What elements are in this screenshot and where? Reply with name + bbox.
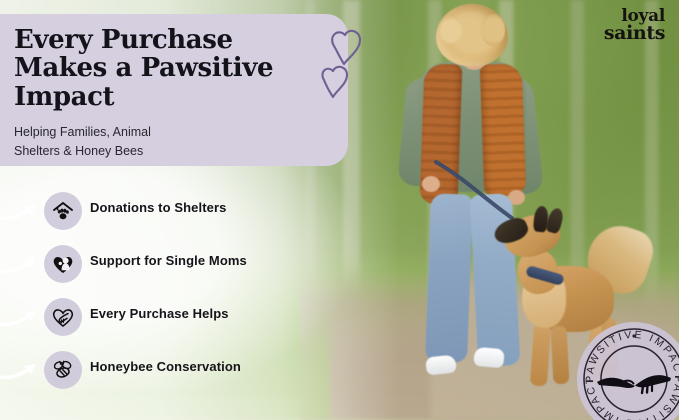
pawsitive-impact-seal: PAWSITIVE IMPACT PAWSITIVE IMPACT <box>575 320 679 420</box>
list-item[interactable]: Every Purchase Helps <box>0 296 330 349</box>
page-title: Every Purchase Makes a Pawsitive Impact <box>14 26 324 111</box>
list-item-label: Support for Single Moms <box>90 253 247 268</box>
headline-card-content: Every Purchase Makes a Pawsitive Impact … <box>14 26 324 162</box>
promo-banner: loyal saints Every Purchase Makes a Paws… <box>0 0 679 420</box>
dog-leg-front-a <box>530 323 551 386</box>
feature-list: Donations to Shelters Support for Single… <box>0 190 330 402</box>
brand-name-line2: saints <box>604 24 665 42</box>
list-item-label: Donations to Shelters <box>90 200 226 215</box>
list-item-label: Every Purchase Helps <box>90 306 229 321</box>
woman-curly-hair <box>436 4 508 66</box>
arrow-icon <box>0 198 42 224</box>
brand-logo[interactable]: loyal saints <box>604 8 665 43</box>
shelter-paw-icon <box>44 192 82 230</box>
list-item[interactable]: Honeybee Conservation <box>0 349 330 402</box>
honeybee-icon <box>44 351 82 389</box>
heart-mother-child-icon <box>44 245 82 283</box>
headline-card: Every Purchase Makes a Pawsitive Impact … <box>0 14 348 166</box>
arrow-icon <box>0 357 42 383</box>
list-item[interactable]: Support for Single Moms <box>0 243 330 296</box>
arrow-icon <box>0 251 42 277</box>
woman-sneaker-left <box>425 354 457 375</box>
list-item[interactable]: Donations to Shelters <box>0 190 330 243</box>
woman-sneaker-right <box>473 347 505 369</box>
list-item-label: Honeybee Conservation <box>90 359 241 374</box>
arrow-icon <box>0 304 42 330</box>
page-subtitle: Helping Families, Animal Shelters & Hone… <box>14 123 324 162</box>
heart-hand-icon <box>44 298 82 336</box>
dog-leg-front-b <box>550 326 569 385</box>
